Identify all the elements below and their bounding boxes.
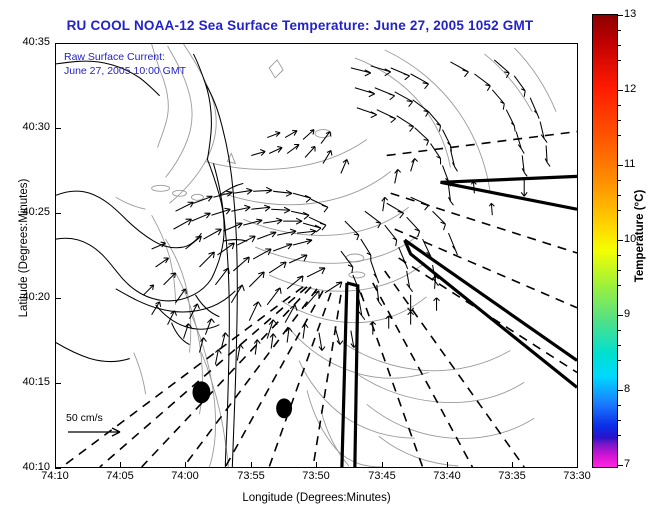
- x-tick-label: 73:55: [226, 470, 276, 482]
- colorbar-tick-label: 7: [624, 458, 630, 470]
- vector-scale-arrow-icon: [66, 424, 132, 440]
- colorbar: [592, 14, 618, 468]
- x-tick-label: 74:05: [95, 470, 145, 482]
- x-tick-label: 74:00: [160, 470, 210, 482]
- x-tick-label: 73:30: [552, 470, 602, 482]
- colorbar-title: Temperature (°C): [634, 156, 646, 316]
- y-tick-label: 40:30: [4, 121, 50, 133]
- map-plot-area: Raw Surface Current: June 27, 2005 10:00…: [55, 43, 578, 468]
- x-axis-title: Longitude (Degrees:Minutes): [55, 492, 578, 504]
- y-tick-label: 40:15: [4, 376, 50, 388]
- figure-canvas: RU COOL NOAA-12 Sea Surface Temperature:…: [0, 0, 651, 515]
- x-tick-label: 73:40: [422, 470, 472, 482]
- vector-scale-legend: 50 cm/s: [66, 412, 132, 445]
- surface-current-annotation: Raw Surface Current: June 27, 2005 10:00…: [64, 50, 186, 78]
- figure-title: RU COOL NOAA-12 Sea Surface Temperature:…: [0, 18, 600, 33]
- contour-islets: [152, 60, 365, 278]
- colorbar-tick-label: 13: [624, 8, 636, 20]
- y-tick-label: 40:10: [4, 461, 50, 473]
- annotation-line-1: Raw Surface Current:: [64, 50, 186, 64]
- colorbar-tick-label: 12: [624, 83, 636, 95]
- colorbar-tick-label: 9: [624, 308, 630, 320]
- station-marker-2: [276, 398, 292, 418]
- station-markers: [192, 381, 292, 418]
- annotation-line-2: June 27, 2005 10:00 GMT: [64, 64, 186, 78]
- x-tick-label: 73:45: [357, 470, 407, 482]
- y-axis-title: Latitude (Degrees:Minutes): [18, 138, 30, 358]
- sst-contours: [116, 44, 556, 467]
- radar-beam-rays: [62, 132, 577, 467]
- y-tick-label: 40:35: [4, 36, 50, 48]
- map-graphics: [56, 44, 577, 467]
- x-tick-label: 73:50: [291, 470, 341, 482]
- vector-scale-label: 50 cm/s: [66, 412, 132, 424]
- colorbar-tick-label: 8: [624, 383, 630, 395]
- colorbar-gradient: [593, 15, 617, 467]
- x-tick-label: 73:35: [487, 470, 537, 482]
